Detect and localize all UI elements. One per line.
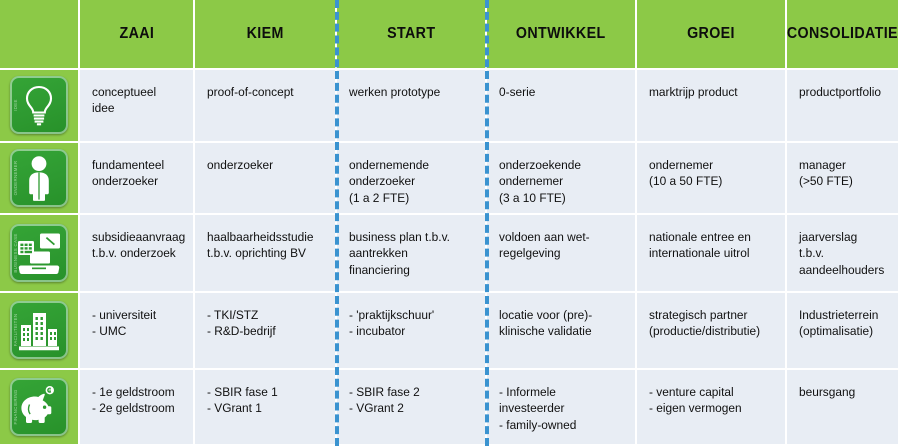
header-cell-zaai[interactable]: ZAAI bbox=[80, 0, 193, 68]
cell-text: haalbaarheidsstudie t.b.v. oprichting BV bbox=[207, 229, 318, 262]
header-label: START bbox=[387, 25, 435, 43]
header-label: ZAAI bbox=[119, 25, 154, 43]
table-cell: locatie voor (pre)- klinische validatie bbox=[487, 293, 635, 368]
row-icon-cell-3: BUSINESS CASE bbox=[0, 215, 78, 291]
header-cell-ontwikkel[interactable]: ONTWIKKEL bbox=[487, 0, 635, 68]
table-cell: nationale entree en internationale uitro… bbox=[637, 215, 785, 291]
cell-text: nationale entree en internationale uitro… bbox=[649, 229, 768, 262]
table-cell: - venture capital - eigen vermogen bbox=[637, 370, 785, 444]
cell-text: - SBIR fase 1 - VGrant 1 bbox=[207, 384, 318, 417]
person-icon: ONDERNEMER bbox=[10, 149, 68, 207]
cell-text: werken prototype bbox=[349, 84, 468, 100]
cell-text: strategisch partner (productie/distribut… bbox=[649, 307, 768, 340]
lightbulb-icon: IDEE bbox=[10, 76, 68, 134]
cell-text: ondernemende onderzoeker (1 a 2 FTE) bbox=[349, 157, 468, 206]
table-cell: - TKI/STZ - R&D-bedrijf bbox=[195, 293, 335, 368]
cell-text: - 1e geldstroom - 2e geldstroom bbox=[92, 384, 177, 417]
table-cell: business plan t.b.v. aantrekken financie… bbox=[337, 215, 485, 291]
table-cell: conceptueel idee bbox=[80, 70, 193, 141]
cell-text: business plan t.b.v. aantrekken financie… bbox=[349, 229, 468, 278]
table-cell: beursgang bbox=[787, 370, 898, 444]
documents-icon: BUSINESS CASE bbox=[10, 224, 68, 282]
table-cell: jaarverslag t.b.v. aandeelhouders bbox=[787, 215, 898, 291]
table-cell: proof-of-concept bbox=[195, 70, 335, 141]
cell-text: subsidieaanvraag t.b.v. onderzoek bbox=[92, 229, 177, 262]
row-icon-vertical-label: ONDERNEMER bbox=[13, 161, 18, 196]
table-cell: onderzoeker bbox=[195, 143, 335, 213]
table-cell: voldoen aan wet- regelgeving bbox=[487, 215, 635, 291]
table-cell: 0-serie bbox=[487, 70, 635, 141]
table-cell: manager (>50 FTE) bbox=[787, 143, 898, 213]
cell-text: jaarverslag t.b.v. aandeelhouders bbox=[799, 229, 882, 278]
piggybank-icon: FINANCIERING bbox=[10, 378, 68, 436]
header-corner-cell bbox=[0, 0, 78, 68]
table-cell: - 'praktijkschuur' - incubator bbox=[337, 293, 485, 368]
row-icon-vertical-label: IDEE bbox=[13, 100, 18, 111]
row-icon-cell-4: FACILITEITEN bbox=[0, 293, 78, 368]
header-cell-consolidatie[interactable]: CONSOLIDATIE bbox=[787, 0, 898, 68]
header-label: GROEI bbox=[687, 25, 735, 43]
cell-text: productportfolio bbox=[799, 84, 882, 100]
cell-text: - venture capital - eigen vermogen bbox=[649, 384, 768, 417]
table-cell: onderzoekende ondernemer (3 a 10 FTE) bbox=[487, 143, 635, 213]
cell-text: proof-of-concept bbox=[207, 84, 318, 100]
cell-text: manager (>50 FTE) bbox=[799, 157, 882, 190]
cell-text: locatie voor (pre)- klinische validatie bbox=[499, 307, 618, 340]
table-cell: productportfolio bbox=[787, 70, 898, 141]
table-cell: werken prototype bbox=[337, 70, 485, 141]
table-cell: marktrijp product bbox=[637, 70, 785, 141]
cell-text: fundamenteel onderzoeker bbox=[92, 157, 177, 190]
row-icon-cell-2: ONDERNEMER bbox=[0, 143, 78, 213]
header-cell-groei[interactable]: GROEI bbox=[637, 0, 785, 68]
divider-start bbox=[335, 0, 339, 446]
table-cell: ondernemer (10 a 50 FTE) bbox=[637, 143, 785, 213]
divider-ontwikkel bbox=[485, 0, 489, 446]
cell-text: 0-serie bbox=[499, 84, 618, 100]
cell-text: - SBIR fase 2 - VGrant 2 bbox=[349, 384, 468, 417]
buildings-icon: FACILITEITEN bbox=[10, 301, 68, 359]
table-cell: - Informele investeerder - family-owned bbox=[487, 370, 635, 444]
development-phase-matrix: ZAAIKIEMSTARTONTWIKKELGROEICONSOLIDATIEI… bbox=[0, 0, 900, 446]
header-label: ONTWIKKEL bbox=[516, 25, 606, 43]
table-cell: strategisch partner (productie/distribut… bbox=[637, 293, 785, 368]
cell-text: beursgang bbox=[799, 384, 882, 400]
table-cell: ondernemende onderzoeker (1 a 2 FTE) bbox=[337, 143, 485, 213]
header-cell-kiem[interactable]: KIEM bbox=[195, 0, 335, 68]
cell-text: voldoen aan wet- regelgeving bbox=[499, 229, 618, 262]
table-cell: fundamenteel onderzoeker bbox=[80, 143, 193, 213]
cell-text: marktrijp product bbox=[649, 84, 768, 100]
table-cell: haalbaarheidsstudie t.b.v. oprichting BV bbox=[195, 215, 335, 291]
row-icon-cell-5: FINANCIERING bbox=[0, 370, 78, 444]
header-label: KIEM bbox=[246, 25, 283, 43]
table-cell: - universiteit - UMC bbox=[80, 293, 193, 368]
cell-text: - TKI/STZ - R&D-bedrijf bbox=[207, 307, 318, 340]
header-cell-start[interactable]: START bbox=[337, 0, 485, 68]
table-cell: - SBIR fase 1 - VGrant 1 bbox=[195, 370, 335, 444]
table-cell: Industrieterrein (optimalisatie) bbox=[787, 293, 898, 368]
header-label: CONSOLIDATIE bbox=[787, 25, 898, 43]
row-icon-cell-1: IDEE bbox=[0, 70, 78, 141]
table-cell: subsidieaanvraag t.b.v. onderzoek bbox=[80, 215, 193, 291]
table-cell: - SBIR fase 2 - VGrant 2 bbox=[337, 370, 485, 444]
cell-text: Industrieterrein (optimalisatie) bbox=[799, 307, 882, 340]
cell-text: ondernemer (10 a 50 FTE) bbox=[649, 157, 768, 190]
cell-text: conceptueel idee bbox=[92, 84, 177, 117]
cell-text: onderzoeker bbox=[207, 157, 318, 173]
table-cell: - 1e geldstroom - 2e geldstroom bbox=[80, 370, 193, 444]
cell-text: - Informele investeerder - family-owned bbox=[499, 384, 618, 433]
cell-text: - 'praktijkschuur' - incubator bbox=[349, 307, 468, 340]
cell-text: onderzoekende ondernemer (3 a 10 FTE) bbox=[499, 157, 618, 206]
cell-text: - universiteit - UMC bbox=[92, 307, 177, 340]
